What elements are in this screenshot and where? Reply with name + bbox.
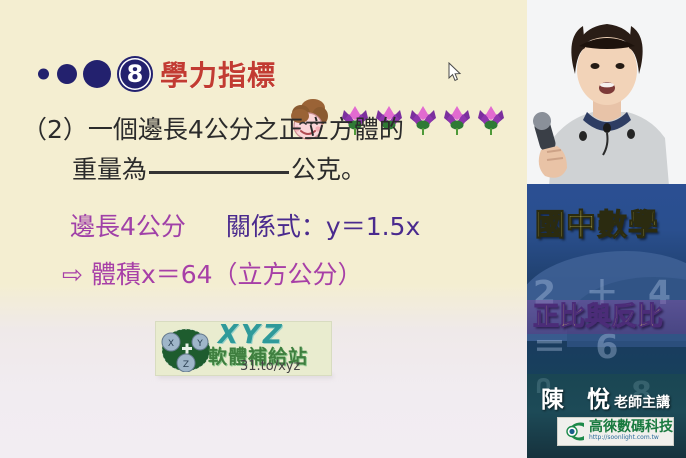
presenter-role: 老師主講 — [614, 395, 670, 411]
watermark-logo: X Y Z XYZ 軟體補給站 31.to/xyz — [155, 321, 332, 376]
company-logo: 高徠數碼科技 http://soonlight.com.tw — [557, 417, 674, 446]
presenter-figure — [527, 0, 686, 186]
video-panel: 2 ＋ 4 ＝ 6 國中數學 正比與反比 8 ∩ 陳 悅老師主講 高徠數碼科技 … — [527, 0, 686, 458]
course-title: 國中數學 — [535, 200, 659, 244]
volume-result: 體積x＝64（立方公分） — [91, 260, 363, 289]
answer-blank[interactable] — [149, 171, 289, 174]
working-row-1: 邊長4公分 關係式：y＝1.5x — [0, 207, 527, 243]
working-row-2: ⇨體積x＝64（立方公分） — [62, 255, 527, 291]
company-mark-icon — [560, 420, 587, 443]
presenter-video — [527, 0, 686, 186]
section-title: 學力指標 — [160, 54, 276, 94]
question-line-2-suffix: 公克。 — [291, 155, 366, 184]
section-number-badge: 8 — [117, 56, 153, 92]
working-block: 邊長4公分 關係式：y＝1.5x ⇨體積x＝64（立方公分） — [0, 207, 527, 291]
company-name: 高徠數碼科技 — [589, 421, 673, 434]
bullet-dot-small — [38, 69, 49, 80]
slide-header: 8 學力指標 — [0, 46, 527, 102]
slide-area: 8 學力指標 — [0, 0, 527, 458]
relation-formula: 關係式：y＝1.5x — [226, 207, 420, 243]
xyz-orb-icon: X Y Z — [160, 325, 212, 372]
bullet-dot-medium — [57, 64, 77, 84]
company-logo-text-group: 高徠數碼科技 http://soonlight.com.tw — [587, 421, 673, 442]
svg-text:Y: Y — [196, 339, 203, 349]
presenter-footer: 8 ∩ 陳 悅老師主講 高徠數碼科技 http://soonlight.com.… — [527, 374, 686, 458]
course-banner: 2 ＋ 4 ＝ 6 國中數學 正比與反比 — [527, 184, 686, 375]
question-line-1: （2）一個邊長4公分之正立方體的 — [22, 112, 527, 148]
given-side-length: 邊長4公分 — [70, 207, 186, 243]
question-line-2-prefix: 重量為 — [72, 155, 147, 184]
course-subtitle: 正比與反比 — [533, 296, 663, 333]
question-block: （2）一個邊長4公分之正立方體的 重量為公克。 — [0, 112, 527, 189]
presenter-name-line: 陳 悅老師主講 — [541, 380, 670, 414]
screen-root: 8 學力指標 — [0, 0, 686, 458]
watermark-url: 31.to/xyz — [240, 359, 300, 374]
svg-text:X: X — [168, 339, 174, 349]
presenter-name: 陳 悅 — [541, 387, 610, 413]
company-url: http://soonlight.com.tw — [589, 434, 673, 442]
question-line-2: 重量為公克。 — [72, 152, 527, 188]
bullet-dot-large — [83, 60, 111, 88]
svg-text:Z: Z — [183, 360, 189, 370]
right-arrow-icon: ⇨ — [62, 260, 83, 289]
